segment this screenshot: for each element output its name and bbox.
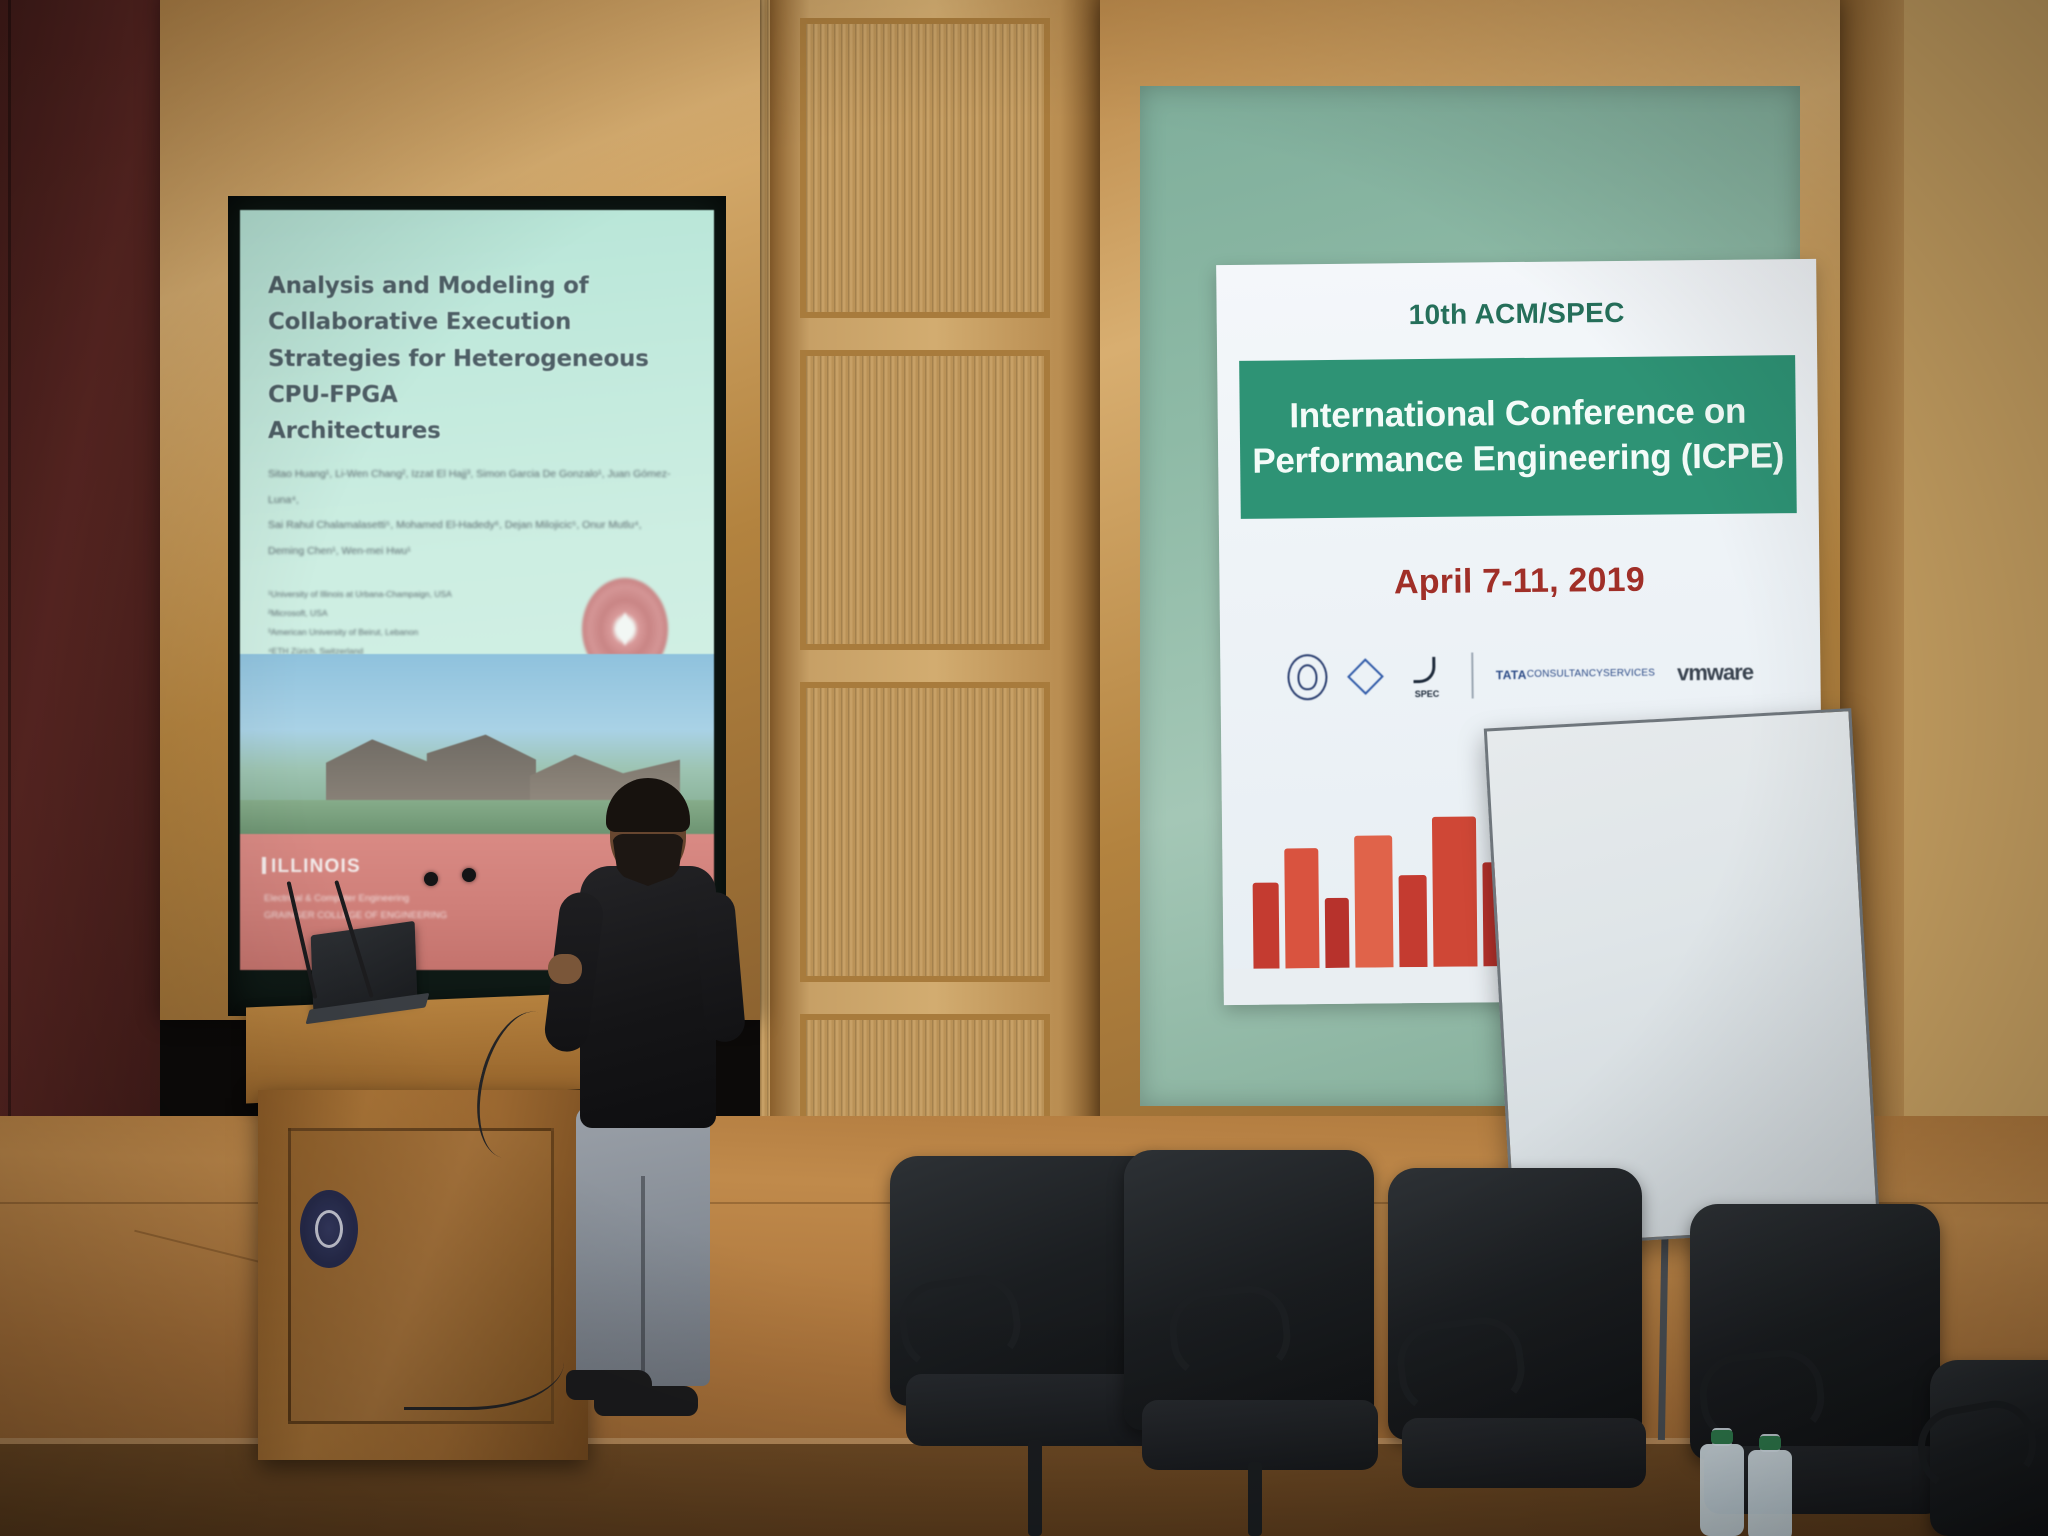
skyline-tower (1253, 883, 1280, 969)
sponsor-divider (1472, 652, 1474, 698)
skyline-tower (1325, 898, 1350, 968)
speaker-hand (548, 954, 582, 984)
microphone-head-icon (424, 872, 438, 886)
iit-crest-icon (1288, 654, 1328, 700)
tcs-logo: TATA CONSULTANCY SERVICES (1496, 665, 1655, 683)
banner-date: April 7-11, 2019 (1219, 559, 1819, 604)
skyline-tower (1354, 835, 1393, 967)
speaker-legs (576, 1106, 710, 1386)
illinois-wordmark: ILLINOIS (262, 856, 361, 878)
chair-seat (1142, 1400, 1378, 1470)
microphone-head-icon (462, 868, 476, 882)
water-bottle[interactable] (1748, 1450, 1792, 1536)
chair-post (1248, 1462, 1262, 1536)
banner-title-block: International Conference on Performance … (1239, 355, 1797, 519)
acm-logo-icon (1350, 663, 1382, 689)
flipchart-whiteboard[interactable] (1484, 708, 1880, 1248)
sponsor-logo-row: SPEC TATA CONSULTANCY SERVICES vmware (1220, 649, 1820, 701)
illinois-bar-icon (262, 857, 266, 874)
water-bottle[interactable] (1700, 1444, 1744, 1536)
skyline-tower (1399, 875, 1428, 967)
bottle-cap (1759, 1436, 1781, 1450)
tcs-line-3: SERVICES (1603, 667, 1655, 681)
chair-seat (1402, 1418, 1646, 1488)
chair-post (1028, 1440, 1042, 1536)
auditorium-scene: Analysis and Modeling of Collaborative E… (0, 0, 2048, 1536)
banner-title-line-1: International Conference on (1289, 390, 1746, 440)
bottle-cap (1711, 1430, 1733, 1444)
wall-inset-panel-1 (800, 18, 1050, 318)
photo-building-1 (326, 730, 536, 808)
spec-swoosh-shape (1414, 657, 1436, 683)
banner-title-line-2: Performance Engineering (ICPE) (1252, 434, 1784, 484)
tcs-line-2: CONSULTANCY (1527, 667, 1603, 681)
wall-inset-panel-2 (800, 350, 1050, 650)
skyline-tower (1432, 816, 1478, 966)
spec-logo-icon: SPEC (1404, 653, 1450, 699)
institute-crest-icon (300, 1190, 358, 1268)
acm-diamond-shape (1347, 658, 1384, 695)
illinois-department: Electrical & Computer Engineering GRAING… (264, 890, 524, 924)
tcs-line-1: TATA (1496, 667, 1527, 684)
slide-author-list: Sitao Huang¹, Li-Wen Chang², Izzat El Ha… (268, 462, 688, 565)
vmware-wordmark: vmware (1677, 660, 1753, 687)
slide-title: Analysis and Modeling of Collaborative E… (268, 268, 688, 450)
banner-kicker: 10th ACM/SPEC (1217, 295, 1817, 333)
spec-label: SPEC (1404, 689, 1450, 699)
skyline-tower (1284, 848, 1319, 968)
wall-inset-panel-3 (800, 682, 1050, 982)
speaker-shoe (594, 1386, 698, 1416)
